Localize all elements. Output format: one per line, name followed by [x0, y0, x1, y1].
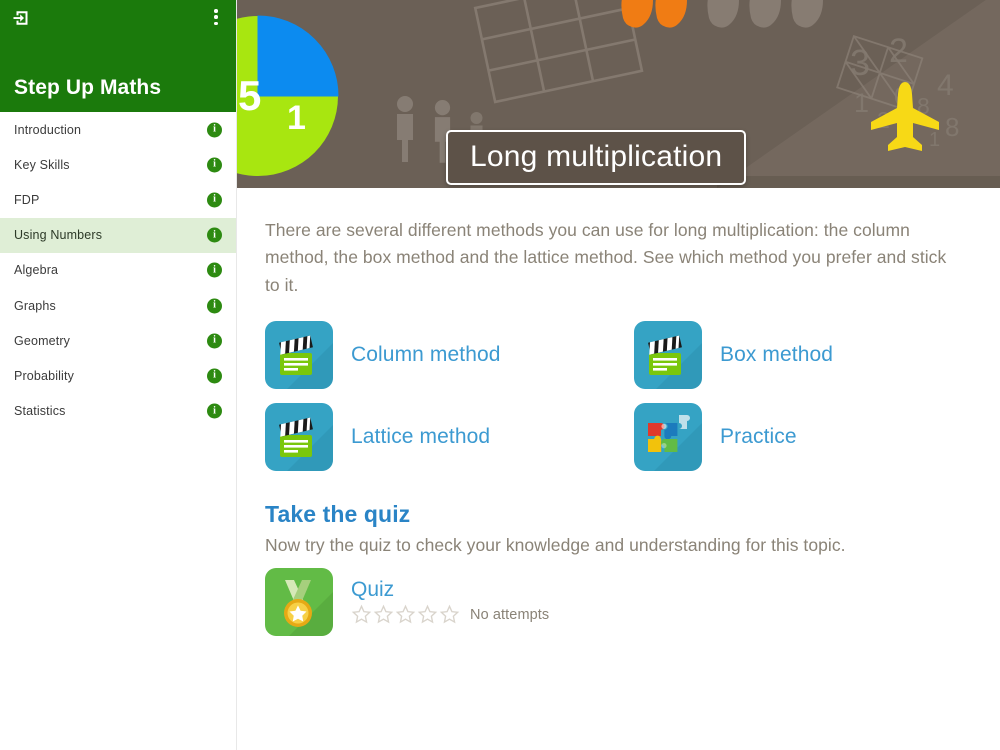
resource-link-column-method[interactable]: Column method	[265, 321, 634, 389]
kebab-menu-icon[interactable]	[208, 7, 224, 27]
quiz-meta: Quiz	[351, 578, 549, 625]
resource-link-practice[interactable]: Practice	[634, 403, 972, 471]
info-icon[interactable]: i	[207, 404, 222, 419]
resource-link-label: Box method	[720, 343, 833, 366]
resource-link-label: Practice	[720, 425, 797, 448]
svg-text:8: 8	[945, 112, 959, 142]
quiz-rating: No attempts	[351, 604, 549, 625]
resource-link-label: Column method	[351, 343, 501, 366]
sidebar-item-label: Statistics	[14, 404, 66, 418]
app-brand-title: Step Up Maths	[14, 76, 161, 100]
sidebar-item-algebra[interactable]: Algebra i	[0, 253, 236, 288]
svg-text:1: 1	[929, 129, 940, 151]
sidebar-item-statistics[interactable]: Statistics i	[0, 394, 236, 429]
sidebar-nav: Introduction i Key Skills i FDP i Using …	[0, 112, 236, 429]
medal-icon	[265, 568, 333, 636]
quiz-row[interactable]: Quiz	[265, 568, 972, 636]
resource-link-label: Lattice method	[351, 425, 490, 448]
info-icon[interactable]: i	[207, 122, 222, 137]
page-banner: 3 2 1 0 8 2 4 8 4 1	[237, 0, 1000, 188]
quiz-attempts-text: No attempts	[470, 607, 549, 623]
pie-chart-graphic: 5 1	[237, 12, 342, 180]
resource-link-lattice-method[interactable]: Lattice method	[265, 403, 634, 471]
puzzle-piece-icon	[634, 403, 702, 471]
video-clapperboard-icon	[265, 321, 333, 389]
info-icon[interactable]: i	[207, 192, 222, 207]
sidebar-item-graphs[interactable]: Graphs i	[0, 288, 236, 323]
sidebar-item-label: Graphs	[14, 299, 56, 313]
page-title-plate: Long multiplication	[446, 130, 746, 186]
svg-text:1: 1	[854, 88, 869, 118]
sidebar-item-label: Probability	[14, 369, 74, 383]
quiz-section: Take the quiz Now try the quiz to check …	[265, 501, 972, 636]
sidebar-item-label: FDP	[14, 193, 39, 207]
star-rating[interactable]	[351, 604, 460, 625]
video-clapperboard-icon	[634, 321, 702, 389]
sidebar-item-key-skills[interactable]: Key Skills i	[0, 147, 236, 182]
page-title: Long multiplication	[470, 141, 722, 173]
sidebar-header: Step Up Maths	[0, 0, 236, 112]
pie-slice-label-1: 1	[287, 99, 306, 137]
sidebar-item-fdp[interactable]: FDP i	[0, 182, 236, 217]
sidebar-topbar	[0, 0, 236, 34]
sidebar-item-label: Key Skills	[14, 158, 70, 172]
resource-link-grid: Column method	[265, 321, 972, 471]
app-root: Step Up Maths Introduction i Key Skills …	[0, 0, 1000, 750]
quiz-subtitle: Now try the quiz to check your knowledge…	[265, 535, 972, 556]
star-icon	[439, 604, 460, 625]
svg-text:4: 4	[937, 69, 954, 102]
pie-slice-label-5: 5	[238, 72, 261, 119]
sidebar-item-label: Geometry	[14, 334, 70, 348]
info-icon[interactable]: i	[207, 157, 222, 172]
sidebar-item-label: Using Numbers	[14, 228, 102, 242]
info-icon[interactable]: i	[207, 333, 222, 348]
info-icon[interactable]: i	[207, 368, 222, 383]
sidebar-item-using-numbers[interactable]: Using Numbers i	[0, 218, 236, 253]
svg-text:3: 3	[850, 42, 870, 83]
resource-link-box-method[interactable]: Box method	[634, 321, 972, 389]
sidebar-item-probability[interactable]: Probability i	[0, 358, 236, 393]
svg-text:2: 2	[889, 32, 908, 70]
sidebar: Step Up Maths Introduction i Key Skills …	[0, 0, 237, 750]
star-icon	[351, 604, 372, 625]
quiz-heading: Take the quiz	[265, 501, 972, 528]
info-icon[interactable]: i	[207, 263, 222, 278]
sidebar-item-geometry[interactable]: Geometry i	[0, 323, 236, 358]
star-icon	[395, 604, 416, 625]
star-icon	[373, 604, 394, 625]
star-icon	[417, 604, 438, 625]
quiz-link-label[interactable]: Quiz	[351, 578, 549, 602]
video-clapperboard-icon	[265, 403, 333, 471]
main-content: There are several different methods you …	[237, 188, 1000, 750]
sidebar-item-label: Algebra	[14, 263, 58, 277]
sidebar-item-label: Introduction	[14, 123, 81, 137]
sidebar-item-introduction[interactable]: Introduction i	[0, 112, 236, 147]
info-icon[interactable]: i	[207, 228, 222, 243]
intro-paragraph: There are several different methods you …	[265, 217, 955, 299]
info-icon[interactable]: i	[207, 298, 222, 313]
exit-arrow-icon[interactable]	[12, 8, 32, 28]
